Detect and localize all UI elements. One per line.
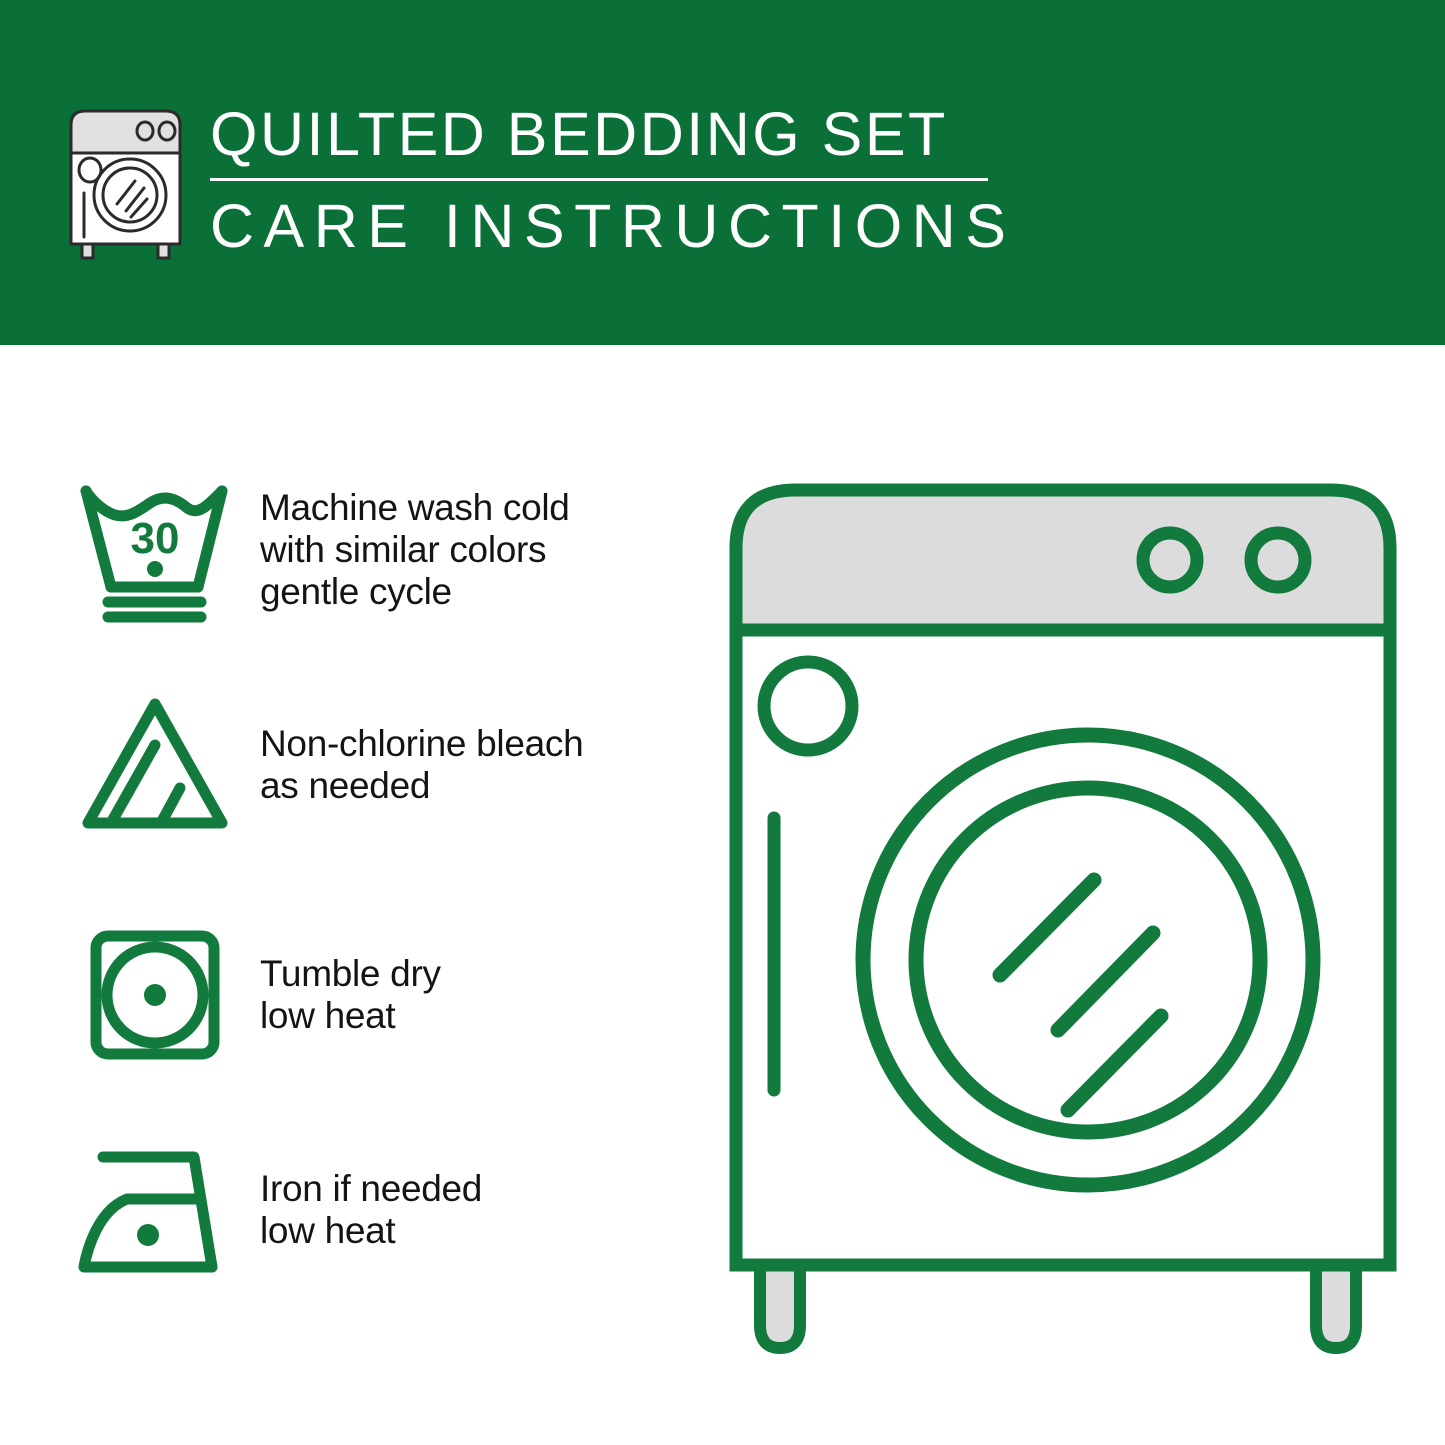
care-item-label: Non-chlorine bleach as needed (260, 723, 583, 807)
care-label-line: with similar colors (260, 529, 570, 571)
washer-legs (760, 1260, 1356, 1348)
washer-control-panel (736, 490, 1390, 630)
washing-machine-logo-icon (63, 101, 188, 261)
care-label-line: Iron if needed (260, 1168, 482, 1210)
care-label-line: Machine wash cold (260, 487, 570, 529)
care-item-tumble-dry: Tumble dry low heat (60, 920, 690, 1070)
care-label-line: Tumble dry (260, 953, 441, 995)
header-banner: QUILTED BEDDING SET CARE INSTRUCTIONS (0, 0, 1445, 345)
care-item-label: Tumble dry low heat (260, 953, 441, 1037)
care-item-iron: Iron if needed low heat (60, 1135, 690, 1285)
washing-machine-illustration (718, 470, 1408, 1370)
wash-tub-30-icon: 30 (60, 475, 250, 625)
washer-body (736, 620, 1390, 1265)
care-label-line: gentle cycle (260, 571, 570, 613)
iron-icon (60, 1135, 250, 1285)
header-content: QUILTED BEDDING SET CARE INSTRUCTIONS (63, 95, 1015, 261)
title-divider (210, 178, 988, 181)
care-instruction-list: 30 Machine wash cold with similar colors… (0, 345, 700, 1445)
page-subtitle: CARE INSTRUCTIONS (210, 191, 1015, 261)
bleach-triangle-icon (60, 690, 250, 840)
header-titles: QUILTED BEDDING SET CARE INSTRUCTIONS (210, 95, 1015, 261)
care-item-label: Iron if needed low heat (260, 1168, 482, 1252)
tumble-dry-icon (60, 920, 250, 1070)
page-title: QUILTED BEDDING SET (210, 99, 1015, 169)
care-label-line: low heat (260, 995, 441, 1037)
care-item-bleach: Non-chlorine bleach as needed (60, 690, 690, 840)
care-instructions-infographic: QUILTED BEDDING SET CARE INSTRUCTIONS (0, 0, 1445, 1445)
wash-temperature-value: 30 (131, 514, 180, 563)
care-label-line: as needed (260, 765, 583, 807)
care-label-line: Non-chlorine bleach (260, 723, 583, 765)
care-label-line: low heat (260, 1210, 482, 1252)
care-item-label: Machine wash cold with similar colors ge… (260, 487, 570, 613)
care-item-machine-wash: 30 Machine wash cold with similar colors… (60, 475, 690, 625)
